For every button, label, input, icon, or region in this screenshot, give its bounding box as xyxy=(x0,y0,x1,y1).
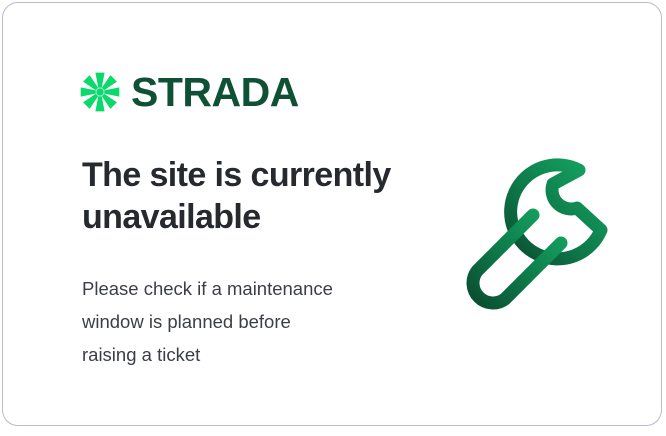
brand-lockup: STRADA xyxy=(79,71,299,113)
description-line: window is planned before xyxy=(82,306,392,339)
strada-starburst-icon xyxy=(79,71,121,113)
error-page: STRADA The site is currently unavailable… xyxy=(0,0,666,436)
page-description: Please check if a maintenance window is … xyxy=(82,273,392,372)
wrench-icon xyxy=(455,153,623,321)
description-line: raising a ticket xyxy=(82,339,392,372)
description-line: Please check if a maintenance xyxy=(82,273,392,306)
page-title: The site is currently unavailable xyxy=(82,155,422,239)
brand-wordmark: STRADA xyxy=(131,72,299,113)
status-card: STRADA The site is currently unavailable… xyxy=(2,2,662,426)
